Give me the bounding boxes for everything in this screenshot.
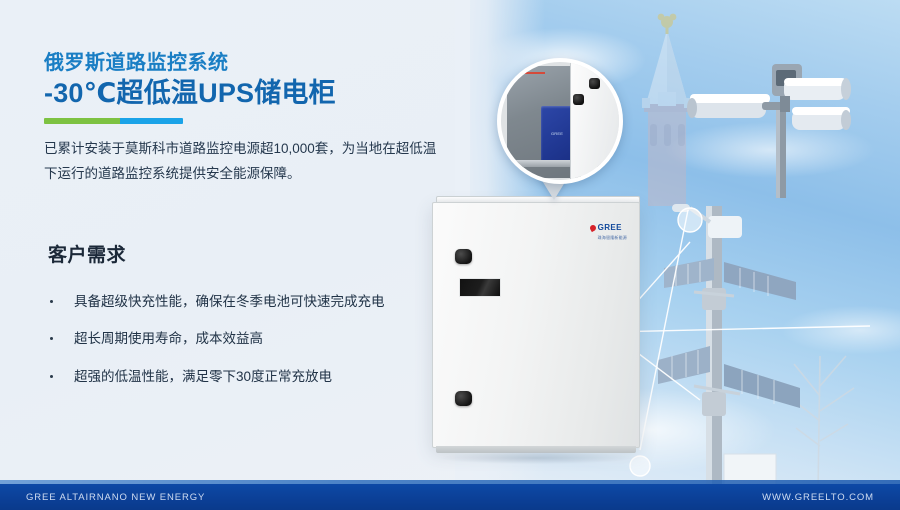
bullet-dot-icon (50, 300, 53, 303)
accent-divider-green (44, 118, 120, 124)
cabinet-latch-top-icon (455, 249, 472, 264)
cabinet-open-door (570, 58, 623, 184)
surveillance-camera-image (676, 18, 900, 198)
list-item: 超长周期使用寿命，成本效益高 (46, 329, 446, 349)
bullet-dot-icon (50, 375, 53, 378)
page-title-small: 俄罗斯道路监控系统 (44, 52, 444, 75)
list-item: 超强的低温性能，满足零下30度正常充放电 (46, 367, 446, 387)
cabinet-door: GREE 珠海银隆新能源 (432, 202, 640, 448)
cabinet-interior-callout: GREE (497, 58, 637, 216)
cabinet-shadow (440, 452, 632, 464)
gree-logo-mark-icon (588, 224, 596, 232)
lede-paragraph: 已累计安装于莫斯科市道路监控电源超10,000套，为当地在超低温下运行的道路监控… (44, 137, 444, 187)
slide-root: GREE 珠海银隆新能源 GREE 俄罗斯道路监控系统 -30 (0, 0, 900, 510)
customer-needs-list: 具备超级快充性能，确保在冬季电池可快速完成充电 超长周期使用寿命，成本效益高 超… (46, 292, 446, 404)
cabinet-vent-window (459, 278, 501, 297)
cabinet-latch-bottom-icon (455, 391, 472, 406)
cabinet-wiring (509, 72, 545, 172)
list-item-text: 具备超级快充性能，确保在冬季电池可快速完成充电 (74, 294, 385, 309)
footer-company-name: GREE ALTAIRNANO NEW ENERGY (26, 492, 205, 503)
footer-website-url[interactable]: WWW.GREELTO.COM (762, 492, 874, 503)
gree-logo-wordmark: GREE (598, 223, 622, 232)
interior-knob-one-icon (589, 78, 600, 89)
gree-logo: GREE 珠海银隆新能源 (590, 218, 627, 240)
accent-divider-blue (120, 118, 183, 124)
page-title-large: -30℃超低温UPS储电柜 (44, 78, 444, 108)
footer-bar: GREE ALTAIRNANO NEW ENERGY WWW.GREELTO.C… (0, 484, 900, 510)
accent-divider (44, 118, 183, 124)
headline-block: 俄罗斯道路监控系统 -30℃超低温UPS储电柜 已累计安装于莫斯科市道路监控电源… (44, 52, 444, 187)
ups-cabinet-image: GREE 珠海银隆新能源 (432, 196, 648, 458)
battery-label: GREE (551, 131, 563, 136)
section-title-customer-needs: 客户需求 (48, 240, 126, 267)
list-item-text: 超长周期使用寿命，成本效益高 (74, 331, 263, 346)
list-item-text: 超强的低温性能，满足零下30度正常充放电 (74, 369, 332, 384)
gree-logo-chinese: 珠海银隆新能源 (598, 236, 627, 240)
bullet-dot-icon (50, 337, 53, 340)
interior-knob-two-icon (573, 94, 584, 105)
solar-panel-pole-image (648, 196, 900, 492)
list-item: 具备超级快充性能，确保在冬季电池可快速完成充电 (46, 292, 446, 312)
cabinet-interior-photo: GREE (497, 58, 623, 184)
